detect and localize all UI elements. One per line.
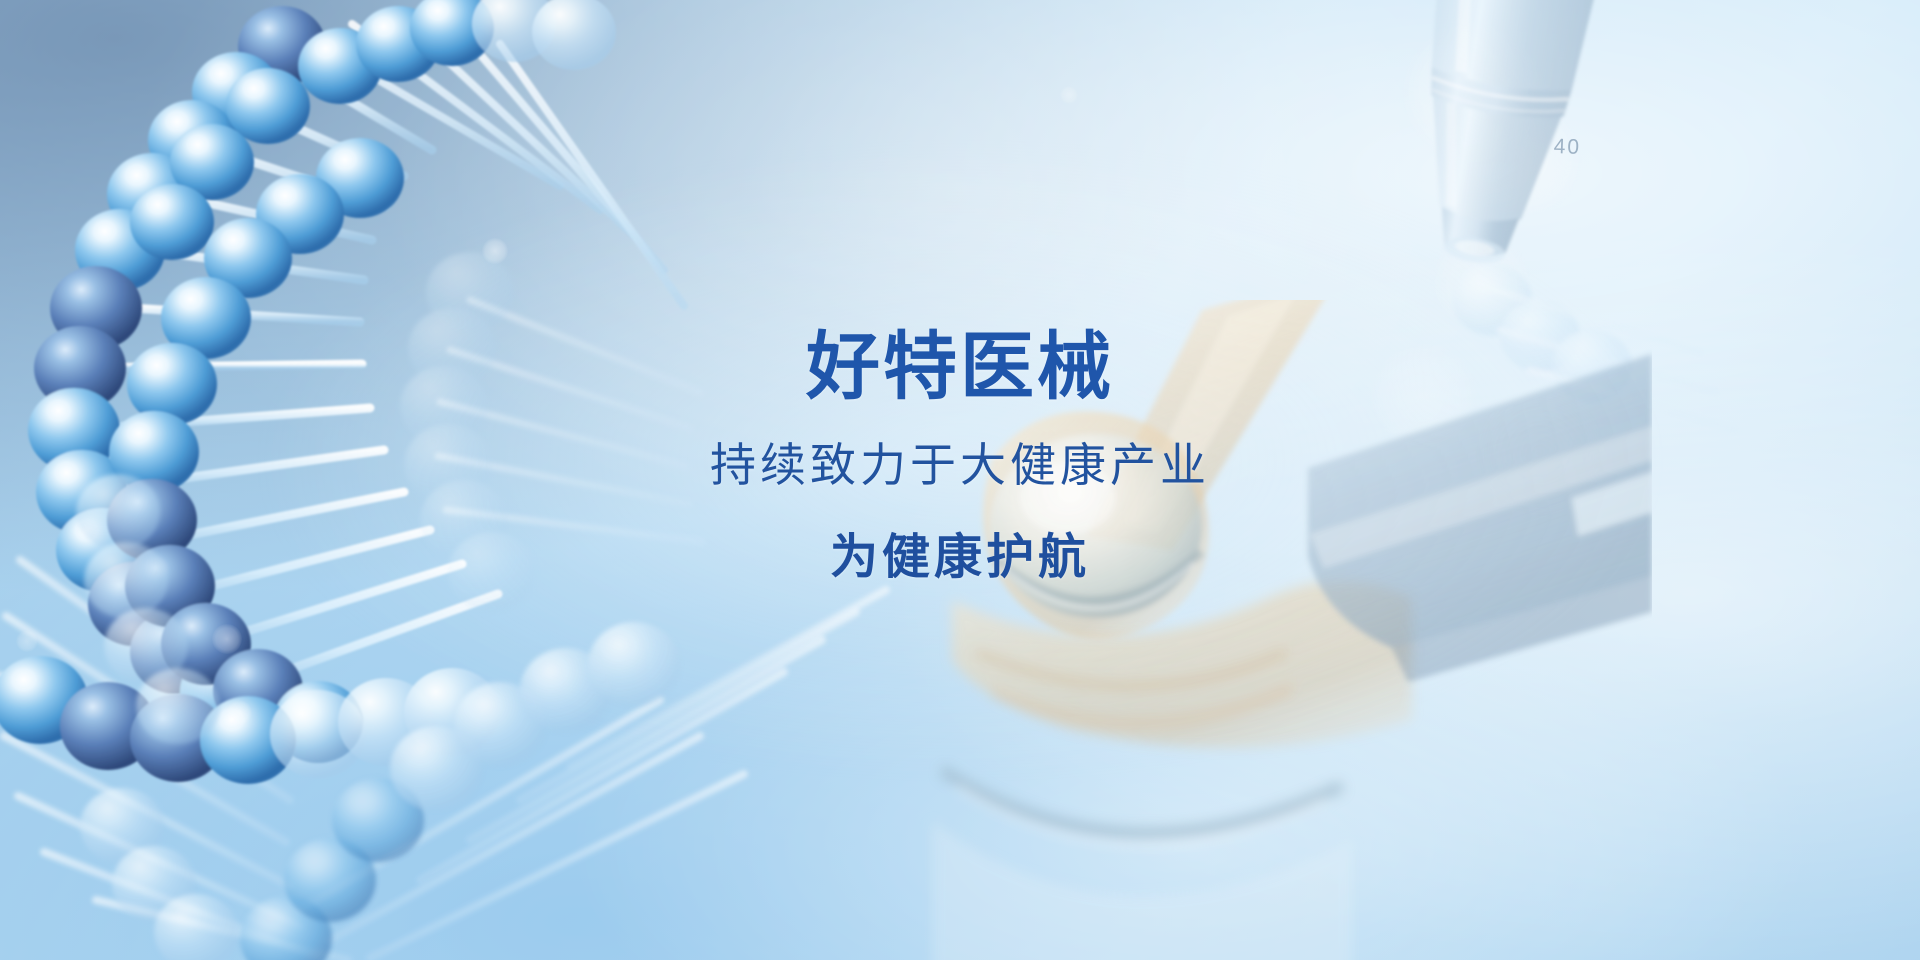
page-title: 好特医械	[0, 330, 1920, 404]
hero-text-block: 好特医械 持续致力于大健康产业 为健康护航	[0, 330, 1920, 582]
hero-banner: 40	[0, 0, 1920, 960]
subtitle: 持续致力于大健康产业	[0, 442, 1920, 488]
tagline: 为健康护航	[0, 534, 1920, 582]
